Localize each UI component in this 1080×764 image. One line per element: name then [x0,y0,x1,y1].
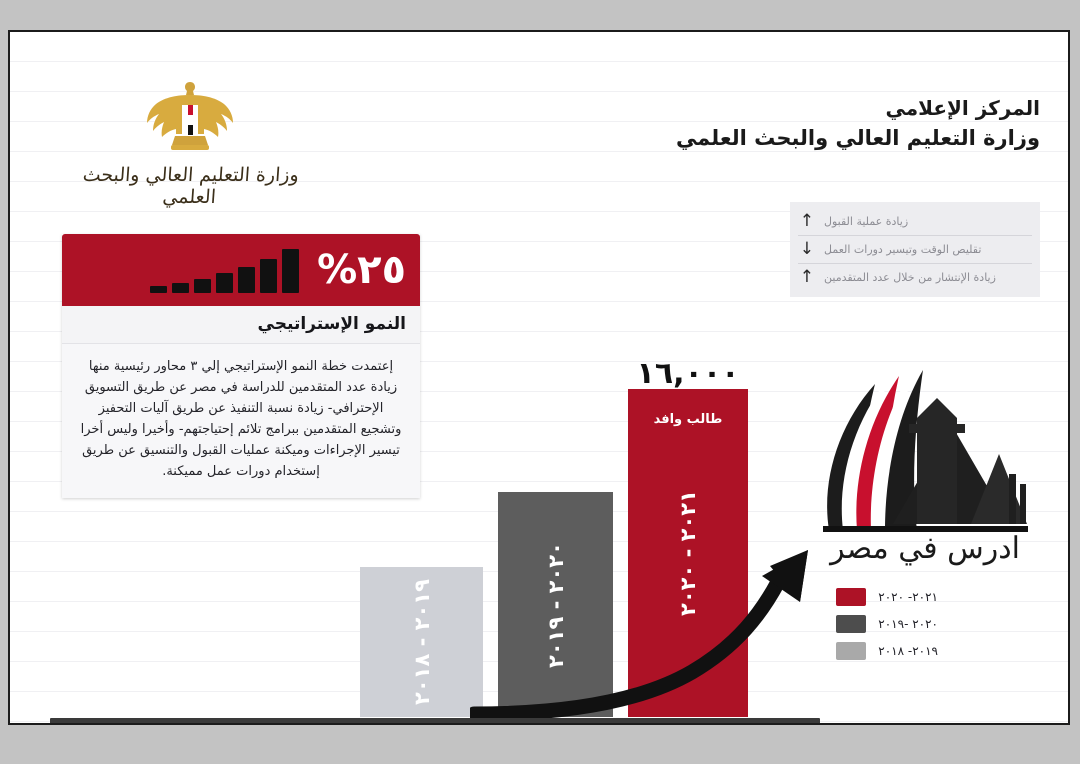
legend-item-2020-2021[interactable]: ٢٠٢١- ٢٠٢٠ [836,588,938,606]
header-line-1: المركز الإعلامي [676,94,1040,123]
benefit-label: زيادة الإنتشار من خلال عدد المتقدمين [824,271,996,284]
benefit-label: تقليص الوقت وتيسير دورات العمل [824,243,981,256]
study-in-egypt-logo: ادرس في مصر [813,362,1038,567]
percent-value: ٢٥ [357,247,406,293]
legend-swatch-dark-gray [836,615,866,633]
growth-bar-chart: ٢٠١٩ - ٢٠١٨ ٢٠٢٠ - ٢٠١٩ ٢٠٢١ - ٢٠٢٠ ١٦,٠… [40,332,830,725]
bar-label: ٢٠١٩ - ٢٠١٨ [410,579,434,705]
header-title: المركز الإعلامي وزارة التعليم العالي وال… [676,94,1040,153]
benefit-item-acceptance[interactable]: زيادة عملية القبول ↑ [798,208,1032,235]
percent-symbol: % [317,247,357,293]
ministry-emblem: وزارة التعليم العالي والبحث العلمي [70,76,310,201]
logo-caption: ادرس في مصر [828,531,1020,566]
arrow-up-icon: ↑ [800,213,814,230]
bar-annotation: طالب وافد [628,412,748,427]
benefits-list: زيادة عملية القبول ↑ تقليص الوقت وتيسير … [790,202,1040,297]
infographic-page: وزارة التعليم العالي والبحث العلمي المرك… [8,30,1070,725]
legend-swatch-light-gray [836,642,866,660]
legend-label: ٢٠٢١- ٢٠٢٠ [878,590,938,604]
arrow-up-icon: ↑ [800,269,814,286]
bar-2018-2019[interactable]: ٢٠١٩ - ٢٠١٨ [360,567,483,717]
bar-value-label: ١٦,٠٠٠ [628,358,748,390]
egypt-eagle-icon [135,76,245,162]
growth-arrow-icon [470,532,830,722]
header-line-2: وزارة التعليم العالي والبحث العلمي [676,123,1040,153]
benefit-label: زيادة عملية القبول [824,215,908,228]
legend-item-2019-2020[interactable]: ٢٠٢٠ -٢٠١٩ [836,615,938,633]
growth-percent: ٢٥% [317,250,406,290]
legend-label: ٢٠٢٠ -٢٠١٩ [878,617,938,631]
legend-label: ٢٠١٩- ٢٠١٨ [878,644,938,658]
arrow-down-icon: ↓ [800,241,814,258]
value-number: ١٦,٠٠٠ [628,358,748,390]
ascending-bars-icon [150,247,299,293]
chart-legend: ٢٠٢١- ٢٠٢٠ ٢٠٢٠ -٢٠١٩ ٢٠١٩- ٢٠١٨ [836,588,938,669]
card-header-banner: ٢٥% [62,234,420,306]
chart-baseline [50,718,820,725]
emblem-caption: وزارة التعليم العالي والبحث العلمي [68,164,311,208]
legend-item-2018-2019[interactable]: ٢٠١٩- ٢٠١٨ [836,642,938,660]
card-title-text: النمو الإستراتيجي [258,314,406,334]
benefit-item-reach[interactable]: زيادة الإنتشار من خلال عدد المتقدمين ↑ [798,263,1032,291]
benefit-item-time[interactable]: تقليص الوقت وتيسير دورات العمل ↓ [798,235,1032,263]
legend-swatch-red [836,588,866,606]
